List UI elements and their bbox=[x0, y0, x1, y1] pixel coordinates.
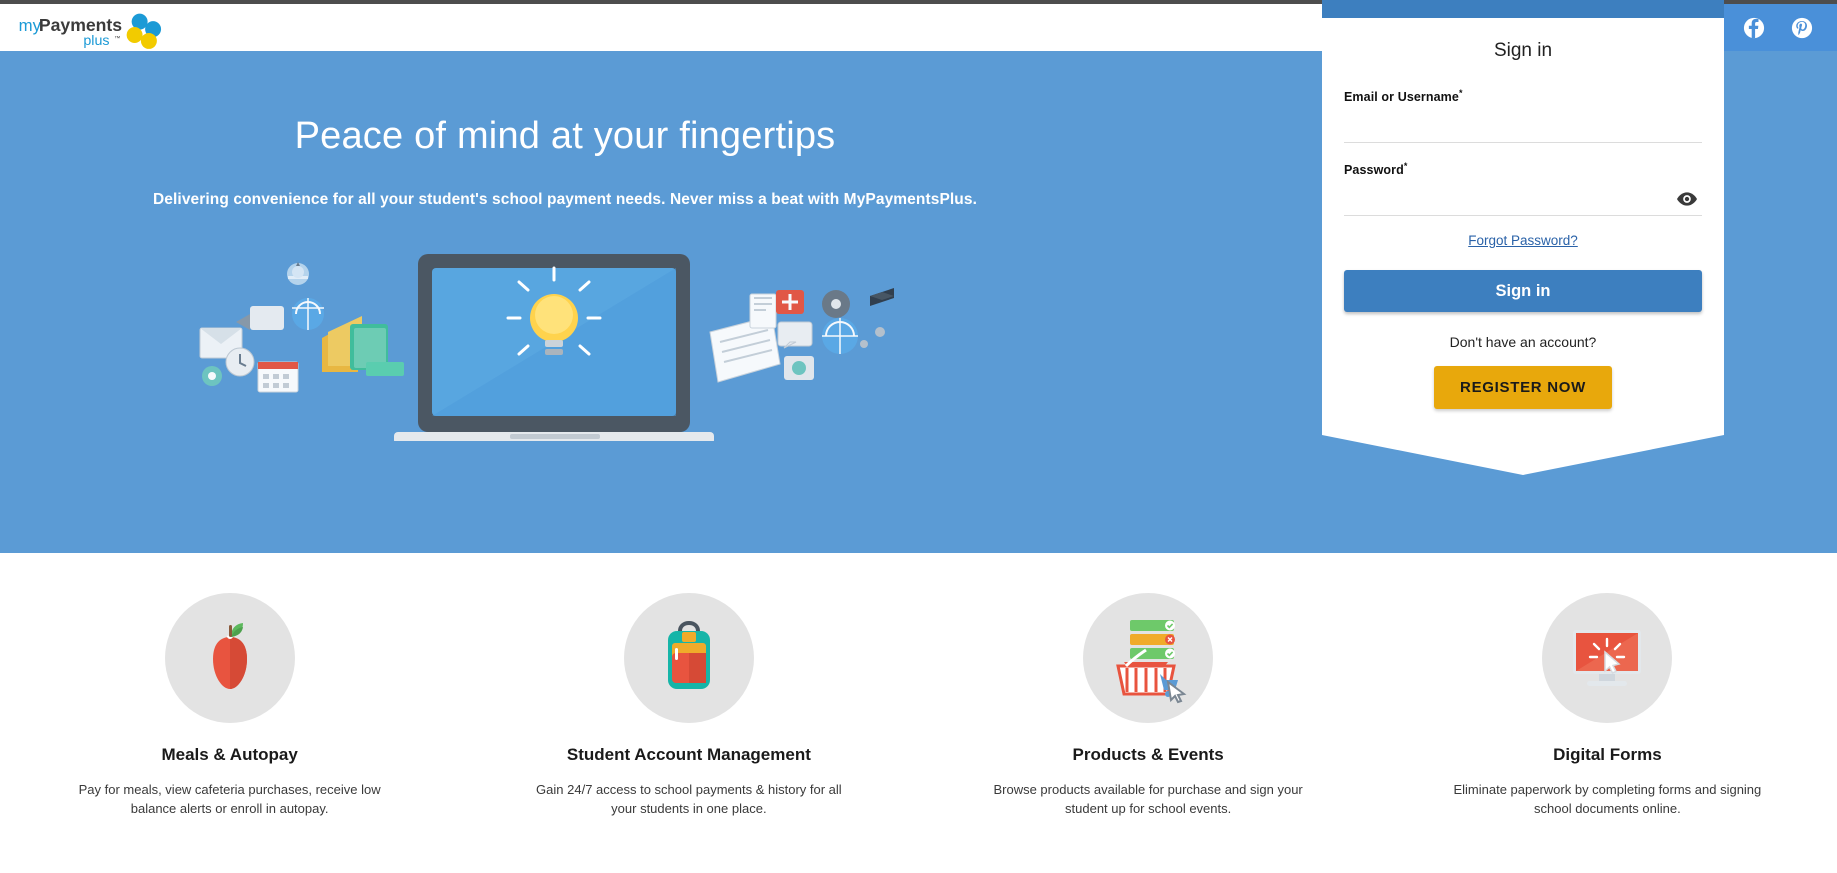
feature-description: Gain 24/7 access to school payments & hi… bbox=[529, 781, 849, 819]
forgot-password-row: Forgot Password? bbox=[1344, 232, 1702, 250]
signin-form: Sign in Email or Username* Password* bbox=[1322, 18, 1724, 435]
feature-title: Products & Events bbox=[919, 745, 1378, 765]
feature-description: Pay for meals, view cafeteria purchases,… bbox=[70, 781, 390, 819]
facebook-icon[interactable] bbox=[1743, 17, 1765, 39]
svg-text:Payments: Payments bbox=[39, 15, 122, 35]
pinterest-icon[interactable] bbox=[1791, 17, 1813, 39]
password-label: Password* bbox=[1344, 163, 1407, 177]
feature-icon-circle bbox=[1542, 593, 1672, 723]
feature-title: Meals & Autopay bbox=[0, 745, 459, 765]
feature-description: Eliminate paperwork by completing forms … bbox=[1447, 781, 1767, 819]
features-section: Meals & Autopay Pay for meals, view cafe… bbox=[0, 553, 1837, 873]
signin-card: Sign in Email or Username* Password* bbox=[1322, 0, 1724, 475]
feature-card: Student Account Management Gain 24/7 acc… bbox=[459, 553, 918, 873]
feature-icon-circle bbox=[1083, 593, 1213, 723]
svg-text:plus: plus bbox=[83, 33, 109, 49]
social-links bbox=[1719, 4, 1837, 51]
hero-subtitle: Delivering convenience for all your stud… bbox=[0, 191, 1130, 209]
signin-title: Sign in bbox=[1344, 40, 1702, 62]
register-row: REGISTER NOW bbox=[1344, 366, 1702, 409]
monitor-cursor-icon bbox=[1561, 612, 1653, 704]
password-input[interactable] bbox=[1344, 181, 1702, 205]
feature-icon-circle bbox=[624, 593, 754, 723]
apple-icon bbox=[187, 615, 273, 701]
card-bottom-notch bbox=[1322, 435, 1724, 475]
register-now-button[interactable]: REGISTER NOW bbox=[1434, 366, 1612, 409]
feature-description: Browse products available for purchase a… bbox=[988, 781, 1308, 819]
email-label: Email or Username* bbox=[1344, 90, 1463, 104]
email-label-text: Email or Username bbox=[1344, 90, 1459, 104]
toggle-password-visibility-button[interactable] bbox=[1674, 189, 1700, 209]
no-account-text: Don't have an account? bbox=[1344, 334, 1702, 350]
shopping-basket-icon bbox=[1100, 610, 1196, 706]
feature-card: Products & Events Browse products availa… bbox=[919, 553, 1378, 873]
email-field-group: Email or Username* bbox=[1344, 84, 1702, 143]
mypaymentsplus-logo[interactable]: my Payments plus ™ bbox=[16, 9, 186, 51]
hero-title: Peace of mind at your fingertips bbox=[0, 115, 1130, 158]
laptop-lightbulb-illustration bbox=[180, 236, 900, 441]
card-top-accent-bar bbox=[1322, 0, 1724, 18]
feature-title: Student Account Management bbox=[459, 745, 918, 765]
backpack-icon bbox=[646, 615, 732, 701]
svg-text:™: ™ bbox=[114, 35, 120, 42]
email-input[interactable] bbox=[1344, 108, 1702, 132]
email-required-marker: * bbox=[1459, 88, 1463, 98]
password-label-text: Password bbox=[1344, 163, 1404, 177]
signin-submit-button[interactable]: Sign in bbox=[1344, 270, 1702, 312]
feature-card: Digital Forms Eliminate paperwork by com… bbox=[1378, 553, 1837, 873]
feature-icon-circle bbox=[165, 593, 295, 723]
page-root: my Payments plus ™ Contact Us bbox=[0, 0, 1837, 873]
eye-icon bbox=[1677, 192, 1697, 206]
password-field-group: Password* bbox=[1344, 157, 1702, 216]
forgot-password-link[interactable]: Forgot Password? bbox=[1468, 233, 1578, 248]
password-required-marker: * bbox=[1404, 161, 1408, 171]
hero-content: Peace of mind at your fingertips Deliver… bbox=[0, 51, 1130, 553]
feature-title: Digital Forms bbox=[1378, 745, 1837, 765]
feature-card: Meals & Autopay Pay for meals, view cafe… bbox=[0, 553, 459, 873]
